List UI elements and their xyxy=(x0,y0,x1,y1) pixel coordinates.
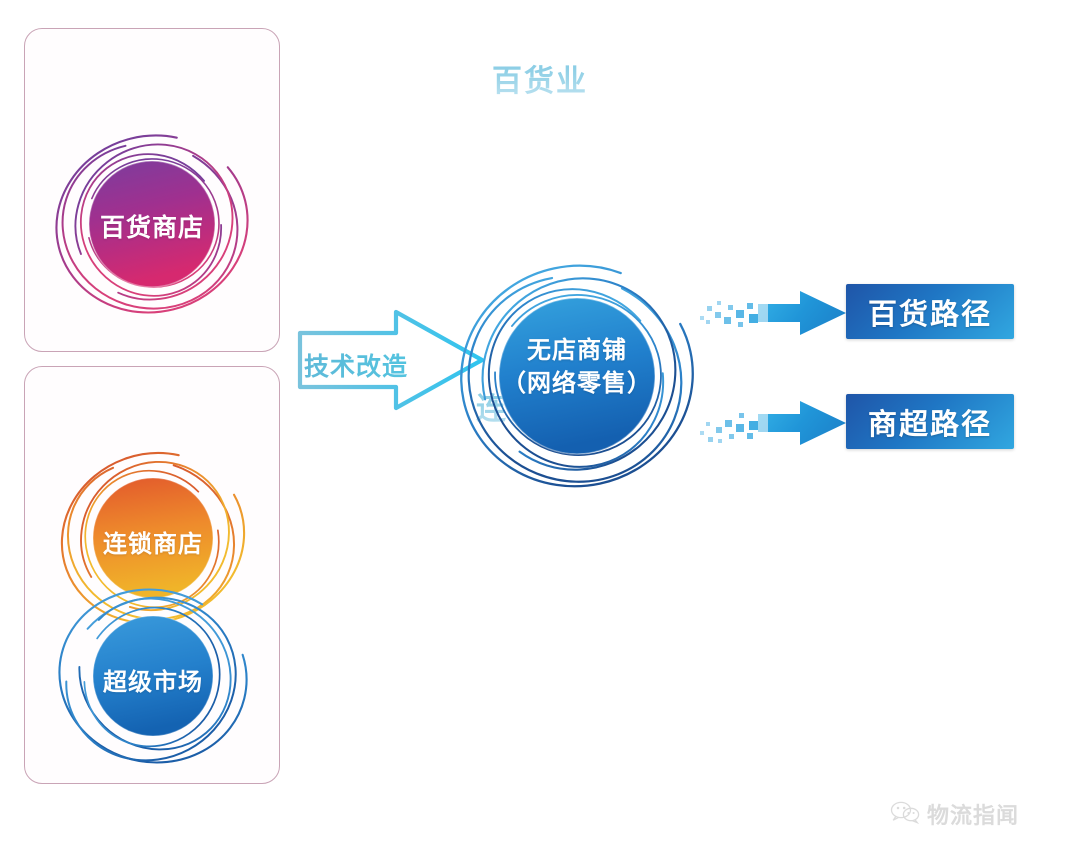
chain-path-button[interactable]: 商超路径 xyxy=(846,394,1014,449)
bubble-online-retail: 无店商铺 （网络零售） xyxy=(452,252,702,502)
department-path-arrow xyxy=(700,283,860,343)
chain-path-arrow xyxy=(700,393,860,453)
chain-path-button-label: 商超路径 xyxy=(868,401,992,443)
department-path-button[interactable]: 百货路径 xyxy=(846,284,1014,339)
bubble-supermarket: 超级市场 xyxy=(44,578,262,778)
bubble-department-store: 百货商店 xyxy=(40,120,264,330)
diagram-canvas: 百货业 xyxy=(0,0,1080,847)
watermark: 物流指闻 xyxy=(890,798,1019,830)
department-path-button-label: 百货路径 xyxy=(868,291,992,333)
watermark-text: 物流指闻 xyxy=(927,798,1019,830)
panel-department-title: 百货业 xyxy=(0,56,1080,100)
wechat-icon xyxy=(890,800,920,829)
technology-transform-label: 技术改造 xyxy=(296,347,416,383)
